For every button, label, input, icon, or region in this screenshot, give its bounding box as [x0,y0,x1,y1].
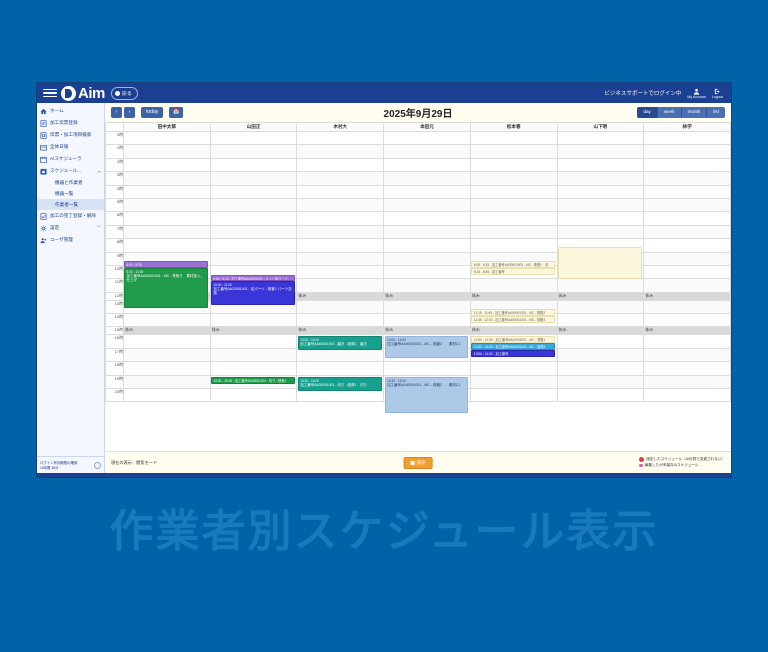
schedule-cell[interactable] [124,375,211,388]
time-label-0: 0時 [106,132,124,145]
schedule-cell[interactable]: 休み [210,327,297,335]
sidebar-item-0[interactable]: ホーム [37,105,104,117]
schedule-cell[interactable] [297,279,384,292]
my-account-button[interactable]: My Account [687,88,706,99]
time-label-2: 2時 [106,158,124,171]
schedule-cell[interactable] [210,212,297,225]
sidebar-footer-text: ログイン有効期限の確認 11時間 38分 [40,460,77,470]
schedule-event-0[interactable]: 8:00 - 8:30加工番号AA30001001 - MC - 検査1 [124,261,208,268]
view-switcher: dayweekmonthlist [637,107,725,118]
worker-column-header-2: 木村大 [297,123,384,132]
schedule-cell[interactable] [470,225,557,238]
login-status-text: ビジネスサポートでログイン中 [604,89,681,97]
save-button-label: 保存 [417,460,426,466]
worker-column-header-5: 山下明 [557,123,644,132]
chevron-icon: ﹀ [97,225,101,231]
schedule-cell[interactable] [384,212,471,225]
sidebar-item-label: 加工伝票登録 [50,120,78,126]
schedule-cell[interactable] [557,335,644,348]
schedule-cell[interactable] [384,132,471,145]
event-title: 加工番号AA60001001 - 磨き - 経費1 磨き [300,342,367,346]
time-label-12: 12時 [106,292,124,300]
unsaved-dot-icon [639,464,643,468]
schedule-row-0: 0時 [106,132,731,145]
schedule-cell[interactable] [557,212,644,225]
schedule-event-15[interactable]: 11:45 - 12:00 - 加工番号AA50001001 - MC - 検数… [471,316,555,323]
time-label-9: 9時 [106,252,124,265]
schedule-cell[interactable] [297,225,384,238]
schedule-cell[interactable] [124,132,211,145]
event-time: 15:30 - 16:00 [300,379,379,383]
schedule-cell[interactable] [644,225,731,238]
event-time: 13:00 - 14:00 [387,338,466,342]
schedule-cell[interactable] [384,279,471,292]
time-label-19: 19時 [106,375,124,388]
sidebar-item-10[interactable]: 設定﹀ [37,222,104,234]
schedule-cell[interactable] [210,389,297,402]
event-title: 加工番号AA20001001 - MC - 荒削り 素材投入、仕上げ [127,274,204,282]
schedule-cell[interactable] [557,348,644,361]
event-time: 15:30 - 16:30 - 加工番号AA30001001 - 切り - 検査… [213,379,292,383]
sidebar: ホーム加工伝票登録伝票・加工項目検索全体日報AIスケジューラスケジュール...︿… [37,103,105,473]
session-expiry-time: 11時間 38分 [40,466,58,470]
schedule-cell[interactable] [644,335,731,348]
next-button[interactable]: › [124,107,135,118]
schedule-row-4: 4時 [106,185,731,198]
schedule-cell[interactable] [470,362,557,375]
schedule-icon [40,168,47,175]
time-label-1: 1時 [106,145,124,158]
schedule-cell[interactable] [384,172,471,185]
schedule-event-11[interactable]: 13:00 - 14:00 - 加工番号 [471,350,555,357]
schedule-event-3[interactable]: 10:00 - 11:00加工番号AA20001001 - 足パーツ - 検査1… [211,281,295,305]
sidebar-item-label: ホーム [50,108,64,114]
sidebar-item-label: 全体日報 [50,144,68,150]
time-label-8: 8時 [106,239,124,252]
schedule-cell[interactable]: 休み [470,327,557,335]
worker-column-header-1: 山田正 [210,123,297,132]
schedule-event-14[interactable]: 11:15 - 11:45 - 加工番号AA50001001 - MC - 検数… [471,309,555,316]
schedule-cell[interactable] [644,145,731,158]
time-label-4: 4時 [106,185,124,198]
schedule-cell[interactable] [644,132,731,145]
schedule-event-7[interactable]: 13:00 - 14:00加工番号AA40001001 - MC - 検査2 素… [385,336,469,358]
schedule-cell[interactable] [124,314,211,327]
schedule-cell[interactable] [297,172,384,185]
pin-icon [639,457,644,462]
view-mode-text: 現在の表示：閲覧モード [111,460,157,466]
schedule-cell[interactable] [384,225,471,238]
sidebar-item-8[interactable]: 作業者一覧 [37,199,104,210]
gear-icon [40,225,47,232]
time-label-16: 16時 [106,335,124,348]
application-window: Aim 戻る ビジネスサポートでログイン中 My Account Logout [36,82,732,478]
logout-icon [714,88,721,95]
time-label-15: 15時 [106,327,124,335]
view-button-month[interactable]: month [682,107,708,118]
my-account-label: My Account [687,95,706,99]
time-label-3: 3時 [106,172,124,185]
schedule-event-13[interactable]: 8:15 - 8:45 - 加工番号 [471,268,555,275]
schedule-row-5: 5時 [106,198,731,211]
schedule-cell[interactable] [644,212,731,225]
schedule-cell[interactable] [470,132,557,145]
schedule-cell[interactable] [644,252,731,265]
schedule-cell[interactable] [297,212,384,225]
schedule-cell[interactable] [644,348,731,361]
schedule-cell[interactable] [124,158,211,171]
worker-column-header-4: 松本春 [470,123,557,132]
event-time: 11:45 - 12:00 - 加工番号AA50001001 - MC - 検数… [474,318,553,322]
schedule-event-4[interactable]: 13:00 - 14:00加工番号AA60001001 - 磨き - 経費1 磨… [298,336,382,350]
top-bar: Aim 戻る ビジネスサポートでログイン中 My Account Logout [37,83,731,103]
schedule-cell[interactable] [384,362,471,375]
schedule-cell[interactable] [470,239,557,252]
report-icon [40,144,47,151]
schedule-cell[interactable] [210,239,297,252]
event-time: 10:00 - 11:00 [213,283,292,287]
schedule-cell[interactable] [297,132,384,145]
schedule-cell[interactable]: 休み [557,327,644,335]
legend-item-unsaved: 編集したが未保存のスケジュール [639,463,725,468]
schedule-cell[interactable] [124,348,211,361]
aim-logo-icon [61,86,76,101]
sidebar-item-label: 設定 [50,225,59,231]
schedule-row-15: 15時休み休み休み休み休み休み休み [106,327,731,335]
schedule-row-2: 2時 [106,158,731,171]
calendar-footer: 現在の表示：閲覧モード 保存 固定したスケジュール（AI計算で変更されない） 編… [105,451,731,473]
schedule-table-head: 田中太郎山田正木村大本田元松本春山下明林学 [106,123,731,132]
schedule-cell[interactable]: 休み [644,327,731,335]
back-arrow-icon [115,91,120,96]
main-panel: ‹ › today 📅 2025年9月29日 dayweekmonthlist … [105,103,731,473]
logout-button[interactable]: Logout [712,88,723,99]
time-label-5: 5時 [106,198,124,211]
schedule-cell[interactable] [644,314,731,327]
view-button-day[interactable]: day [637,107,657,118]
schedule-cell[interactable] [124,335,211,348]
event-title: 加工番号AA40001001 - MC - 検査2 素材C1 [387,342,460,346]
app-body: ホーム加工伝票登録伝票・加工項目検索全体日報AIスケジューラスケジュール...︿… [37,103,731,473]
schedule-cell[interactable]: 休み [124,327,211,335]
sidebar-item-label: AIスケジューラ [50,156,82,162]
prev-button[interactable]: ‹ [111,107,122,118]
schedule-cell[interactable] [210,252,297,265]
schedule-event-5[interactable]: 15:30 - 16:00加工番号AA30001001 - 切り - 経費1 切… [298,377,382,391]
schedule-cell[interactable] [470,279,557,292]
event-title: 加工番号AA30001001 - 切り - 経費1 切り [300,383,367,387]
schedule-cell[interactable] [297,300,384,313]
event-title: 加工番号AA40001001 - MC - 検査2 素材C2 [387,383,460,387]
schedule-cell[interactable] [384,314,471,327]
schedule-cell[interactable] [297,252,384,265]
save-disk-icon [411,461,415,465]
time-label-14: 14時 [106,314,124,327]
schedule-cell[interactable] [557,314,644,327]
legend-label-unsaved: 編集したが未保存のスケジュール [645,463,699,468]
schedule-cell[interactable] [644,375,731,388]
time-column-header [106,123,124,132]
schedule-cell[interactable] [470,198,557,211]
schedule-row-3: 3時 [106,172,731,185]
schedule-cell[interactable]: 休み [297,292,384,300]
schedule-cell[interactable] [297,158,384,171]
home-icon [40,108,47,115]
schedule-cell[interactable] [644,172,731,185]
back-button[interactable]: 戻る [111,87,138,100]
schedule-cell[interactable] [210,348,297,361]
calendar-ai-icon [40,156,47,163]
schedule-cell[interactable] [124,225,211,238]
sidebar-item-label: 機器と作業者 [55,180,83,186]
schedule-cell[interactable] [297,198,384,211]
time-label-18: 18時 [106,362,124,375]
time-label-17: 17時 [106,348,124,361]
schedule-cell[interactable] [557,225,644,238]
event-time: 15:30 - 16:00 [387,379,466,383]
schedule-cell[interactable] [644,158,731,171]
event-time: 13:00 - 13:30 - 加工番号AA40001001 - MC - 検数… [474,338,553,342]
schedule-row-18: 18時 [106,362,731,375]
schedule-cell[interactable] [644,389,731,402]
sidebar-item-label: 加工の完了登録・解除 [50,213,96,219]
schedule-cell[interactable] [470,185,557,198]
schedule-cell[interactable] [557,375,644,388]
schedule-cell[interactable] [297,348,384,361]
event-time: 13:30 - 14:00 - 加工番号AA40001001 - MC - 経費… [474,345,553,349]
schedule-cell[interactable] [557,362,644,375]
event-time: 13:00 - 14:00 [300,338,379,342]
schedule-cell[interactable] [557,172,644,185]
time-label-10: 10時 [106,265,124,278]
schedule-event-10[interactable]: 13:30 - 14:00 - 加工番号AA40001001 - MC - 経費… [471,343,555,350]
legend: 固定したスケジュール（AI計算で変更されない） 編集したが未保存のスケジュール [639,457,725,468]
schedule-cell[interactable] [210,314,297,327]
schedule-cell[interactable] [384,145,471,158]
sidebar-item-label: 作業者一覧 [55,202,78,208]
schedule-cell[interactable] [210,132,297,145]
legend-label-fixed: 固定したスケジュール（AI計算で変更されない） [646,457,725,462]
schedule-cell[interactable] [557,389,644,402]
schedule-cell[interactable] [210,172,297,185]
person-icon [693,88,700,95]
schedule-row-7: 7時 [106,225,731,238]
schedule-event-9[interactable]: 13:00 - 13:30 - 加工番号AA40001001 - MC - 検数… [471,336,555,343]
schedule-cell[interactable] [384,300,471,313]
schedule-cell[interactable] [470,145,557,158]
schedule-cell[interactable] [210,158,297,171]
schedule-cell[interactable] [384,198,471,211]
top-bar-right: ビジネスサポートでログイン中 My Account Logout [604,88,727,99]
event-time: 8:00 - 8:15 - 加工番号AA30001001 - MC - 検査1 … [474,263,553,267]
event-time: 8:30 - 11:30 [127,270,206,274]
event-time: 8:15 - 8:45 - 加工番号 [474,270,553,274]
calendar-picker-icon[interactable]: 📅 [169,107,183,118]
schedule-event-8[interactable]: 15:30 - 16:00加工番号AA40001001 - MC - 検査2 素… [385,377,469,413]
brand-logo-group: Aim [61,85,105,102]
schedule-cell[interactable] [384,158,471,171]
view-button-week[interactable]: week [658,107,682,118]
sidebar-footer: ログイン有効期限の確認 11時間 38分 [37,456,104,473]
schedule-cell[interactable] [557,198,644,211]
time-label-11: 11時 [106,279,124,292]
schedule-cell[interactable] [124,239,211,252]
schedule-cell[interactable]: 休み [297,327,384,335]
view-button-list[interactable]: list [707,107,725,118]
chevron-icon: ︿ [97,168,101,174]
schedule-cell[interactable] [557,185,644,198]
schedule-cell[interactable] [384,265,471,278]
legend-item-fixed: 固定したスケジュール（AI計算で変更されない） [639,457,725,462]
worker-column-header-6: 林学 [644,123,731,132]
schedule-cell[interactable] [470,172,557,185]
schedule-cell[interactable] [124,389,211,402]
schedule-cell[interactable] [557,132,644,145]
event-time: 13:00 - 14:00 - 加工番号 [474,352,553,356]
schedule-cell[interactable] [297,145,384,158]
calendar-scroll-area[interactable]: 田中太郎山田正木村大本田元松本春山下明林学 0時1時2時3時4時5時6時7時8時… [105,122,731,451]
schedule-cell[interactable] [557,145,644,158]
schedule-cell[interactable] [124,362,211,375]
schedule-cell[interactable] [297,239,384,252]
save-button[interactable]: 保存 [404,457,433,469]
sidebar-item-label: ユーザ管理 [50,237,73,243]
worker-column-header-3: 本田元 [384,123,471,132]
sidebar-item-6[interactable]: 機器と作業者 [37,177,104,188]
schedule-event-12[interactable]: 8:00 - 8:15 - 加工番号AA30001001 - MC - 検査1 … [471,261,555,268]
schedule-cell[interactable] [384,239,471,252]
schedule-cell[interactable] [644,279,731,292]
clock-icon [94,462,101,469]
schedule-cell[interactable] [124,185,211,198]
schedule-cell[interactable] [644,300,731,313]
schedule-cell[interactable]: 休み [384,327,471,335]
worker-header-row: 田中太郎山田正木村大本田元松本春山下明林学 [106,123,731,132]
schedule-cell[interactable]: 休み [470,292,557,300]
schedule-cell[interactable] [210,198,297,211]
schedule-cell[interactable] [297,185,384,198]
schedule-cell[interactable] [124,212,211,225]
schedule-cell[interactable] [124,198,211,211]
time-label-20: 20時 [106,389,124,402]
time-label-13: 13時 [106,300,124,313]
schedule-cell[interactable]: 休み [557,292,644,300]
sidebar-item-2[interactable]: 伝票・加工項目検索 [37,129,104,141]
sidebar-item-1[interactable]: 加工伝票登録 [37,117,104,129]
schedule-cell[interactable] [470,158,557,171]
schedule-event-1[interactable]: 8:30 - 11:30加工番号AA20001001 - MC - 荒削り 素材… [124,268,208,308]
schedule-cell[interactable] [644,362,731,375]
worker-column-header-0: 田中太郎 [124,123,211,132]
sidebar-item-4[interactable]: AIスケジューラ [37,153,104,165]
search-doc-icon [40,132,47,139]
event-time: 11:15 - 11:45 - 加工番号AA50001001 - MC - 検数… [474,311,553,315]
schedule-event-6[interactable]: 15:30 - 16:30 - 加工番号AA30001001 - 切り - 検査… [211,377,295,384]
schedule-cell[interactable] [470,212,557,225]
schedule-row-6: 6時 [106,212,731,225]
schedule-cell[interactable] [644,185,731,198]
schedule-cell[interactable] [644,239,731,252]
schedule-cell[interactable]: 休み [384,292,471,300]
calendar-toolbar: ‹ › today 📅 2025年9月29日 dayweekmonthlist [105,103,731,122]
schedule-cell[interactable] [124,145,211,158]
sidebar-item-7[interactable]: 機器一覧 [37,188,104,199]
schedule-cell[interactable] [124,172,211,185]
hamburger-menu-icon[interactable] [43,89,57,98]
sidebar-item-11[interactable]: ユーザ管理 [37,234,104,246]
time-label-7: 7時 [106,225,124,238]
schedule-cell[interactable]: 休み [644,292,731,300]
schedule-cell[interactable] [644,198,731,211]
schedule-cell[interactable] [297,362,384,375]
logout-label: Logout [712,95,723,99]
schedule-cell[interactable] [297,314,384,327]
session-expiry-label: ログイン有効期限の確認 [40,461,77,465]
sidebar-item-5[interactable]: スケジュール...︿ [37,165,104,177]
today-button[interactable]: today [141,107,163,118]
schedule-cell[interactable] [210,335,297,348]
schedule-cell[interactable] [470,375,557,388]
sidebar-item-label: 伝票・加工項目検索 [50,132,91,138]
schedule-cell[interactable] [210,225,297,238]
sidebar-item-9[interactable]: 加工の完了登録・解除 [37,210,104,222]
sidebar-item-label: スケジュール... [50,168,81,174]
users-icon [40,237,47,244]
back-button-label: 戻る [122,90,132,97]
schedule-row-14: 14時 [106,314,731,327]
complete-icon [40,213,47,220]
schedule-cell[interactable] [297,265,384,278]
brand-name: Aim [78,85,105,102]
schedule-cell[interactable] [644,265,731,278]
document-icon [40,120,47,127]
time-label-6: 6時 [106,212,124,225]
schedule-cell[interactable] [384,252,471,265]
schedule-cell[interactable] [384,185,471,198]
schedule-event-16[interactable] [558,247,642,279]
schedule-cell[interactable] [210,185,297,198]
schedule-cell[interactable] [557,279,644,292]
sidebar-item-list: ホーム加工伝票登録伝票・加工項目検索全体日報AIスケジューラスケジュール...︿… [37,103,104,456]
event-title: 加工番号AA20001001 - 足パーツ - 検査1 パーツ交換 [213,287,291,295]
sidebar-item-label: 機器一覧 [55,191,73,197]
schedule-cell[interactable] [557,158,644,171]
watermark-text: 作業者別スケジュール表示 [0,495,768,559]
event-time: 8:00 - 8:30 [127,263,206,267]
schedule-cell[interactable] [210,145,297,158]
status-bar [37,473,731,477]
schedule-cell[interactable] [557,300,644,313]
sidebar-item-3[interactable]: 全体日報 [37,141,104,153]
schedule-cell[interactable] [470,389,557,402]
schedule-cell[interactable] [210,362,297,375]
schedule-row-1: 1時 [106,145,731,158]
